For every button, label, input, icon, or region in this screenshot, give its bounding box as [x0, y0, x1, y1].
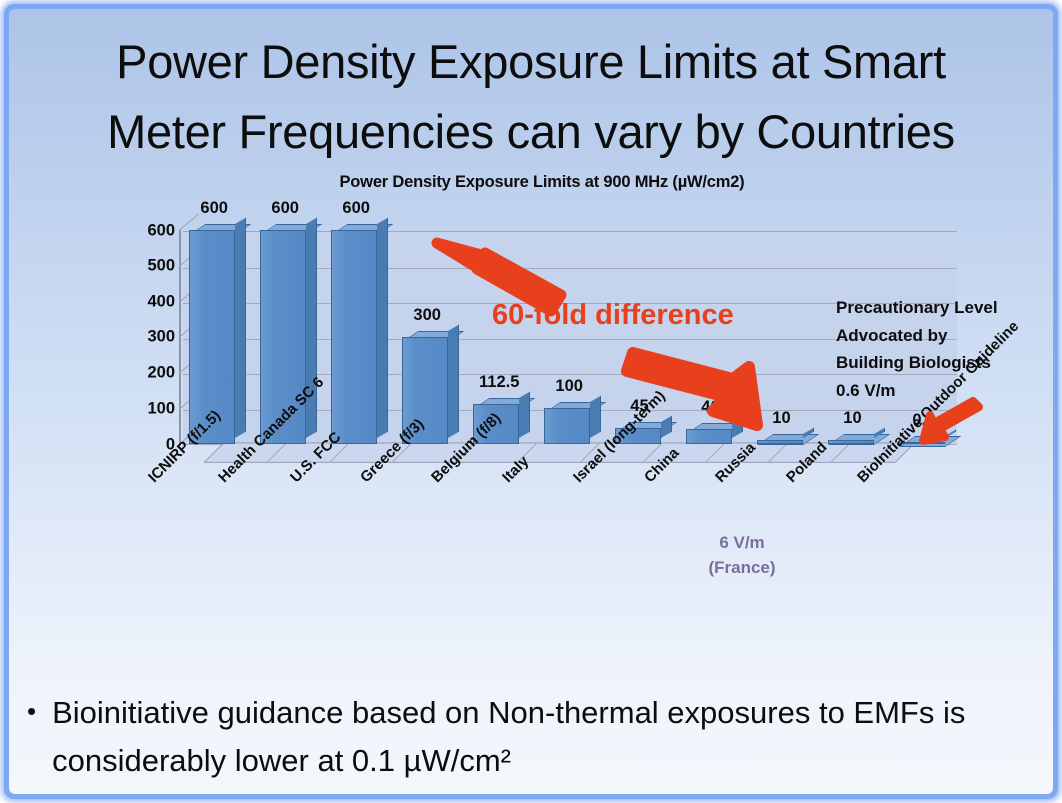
france-annotation-line-2: (France)	[682, 556, 802, 581]
bar-russia[interactable]: 10	[757, 440, 803, 444]
page-title: Power Density Exposure Limits at Smart M…	[29, 27, 1033, 166]
bullet-text: Bioinitiative guidance based on Non-ther…	[52, 689, 1037, 785]
bullet-point: • Bioinitiative guidance based on Non-th…	[27, 689, 1037, 785]
bar-front-face	[828, 440, 874, 444]
bar-front-face	[331, 230, 377, 444]
bar-front-face	[757, 440, 803, 444]
bar-value-label: 100	[555, 377, 583, 396]
bar-value-label: 600	[271, 199, 299, 218]
bullet-marker: •	[27, 689, 36, 785]
bar-italy[interactable]: 100	[544, 408, 590, 444]
bar-side-face	[448, 325, 459, 438]
bar-poland[interactable]: 10	[828, 440, 874, 444]
bar-front-face	[544, 408, 590, 444]
arrow-pointing-to-russia-bar	[617, 339, 787, 439]
precautionary-level-annotation: Precautionary Level Advocated by Buildin…	[836, 294, 1053, 404]
bar-value-label: 112.5	[479, 373, 519, 392]
page-title-line-1: Power Density Exposure Limits at Smart	[29, 27, 1033, 97]
bar-value-label: 600	[200, 199, 228, 218]
bar-side-face	[519, 392, 530, 438]
slide: Power Density Exposure Limits at Smart M…	[0, 0, 1062, 803]
bar-side-face	[235, 218, 246, 438]
bar-value-label: 600	[342, 199, 370, 218]
arrow-pointing-to-600-bars	[429, 231, 579, 331]
france-annotation: 6 V/m (France)	[682, 531, 802, 580]
bar-value-label: 10	[843, 409, 861, 428]
slide-canvas: Power Density Exposure Limits at Smart M…	[9, 9, 1053, 794]
page-title-line-2: Meter Frequencies can vary by Countries	[29, 97, 1033, 167]
precaution-line-2: Advocated by	[836, 322, 1053, 350]
bar-side-face	[590, 396, 601, 438]
arrow-pointing-to-bioinitiative-bar	[917, 399, 997, 451]
france-annotation-line-1: 6 V/m	[682, 531, 802, 556]
precaution-line-1: Precautionary Level	[836, 294, 1053, 322]
bar-side-face	[377, 218, 388, 438]
bar-us-fcc[interactable]: 600	[331, 230, 377, 444]
precaution-line-3: Building Biologists	[836, 349, 1053, 377]
